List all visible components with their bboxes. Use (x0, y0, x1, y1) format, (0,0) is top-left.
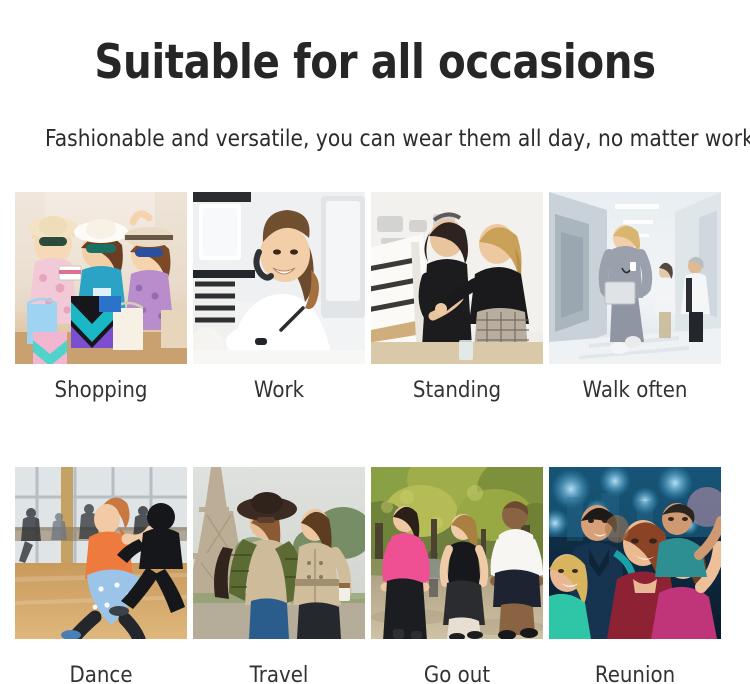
occasion-label: Go out (380, 639, 535, 684)
occasions-grid: Shopping (15, 192, 736, 684)
page-subtitle: Fashionable and versatile, you can wear … (45, 124, 705, 154)
occasion-label: Travel (202, 639, 357, 684)
occasions-row-1: Shopping (15, 192, 736, 406)
occasion-label: Reunion (558, 639, 713, 684)
grid-row-spacer (15, 406, 736, 467)
occasion-label: Shopping (24, 364, 179, 406)
occasion-cell-standing[interactable]: Standing (371, 192, 543, 406)
occasion-cell-dance[interactable]: Dance (15, 467, 187, 684)
occasion-cell-travel[interactable]: Travel (193, 467, 365, 684)
work-photo (193, 192, 365, 364)
go-out-photo (371, 467, 543, 639)
occasion-label: Walk often (558, 364, 713, 406)
occasion-label: Standing (380, 364, 535, 406)
reunion-photo (549, 467, 721, 639)
page-title: Suitable for all occasions (53, 34, 698, 92)
occasion-label: Work (202, 364, 357, 406)
occasion-label: Dance (24, 639, 179, 684)
dance-photo (15, 467, 187, 639)
occasion-cell-reunion[interactable]: Reunion (549, 467, 721, 684)
promo-banner: Suitable for all occasions Fashionable a… (0, 0, 750, 684)
occasion-cell-walk-often[interactable]: Walk often (549, 192, 721, 406)
occasion-cell-go-out[interactable]: Go out (371, 467, 543, 684)
standing-photo (371, 192, 543, 364)
shopping-photo (15, 192, 187, 364)
occasion-cell-shopping[interactable]: Shopping (15, 192, 187, 406)
travel-photo (193, 467, 365, 639)
walk-often-photo (549, 192, 721, 364)
occasion-cell-work[interactable]: Work (193, 192, 365, 406)
occasions-row-2: Dance (15, 467, 736, 684)
